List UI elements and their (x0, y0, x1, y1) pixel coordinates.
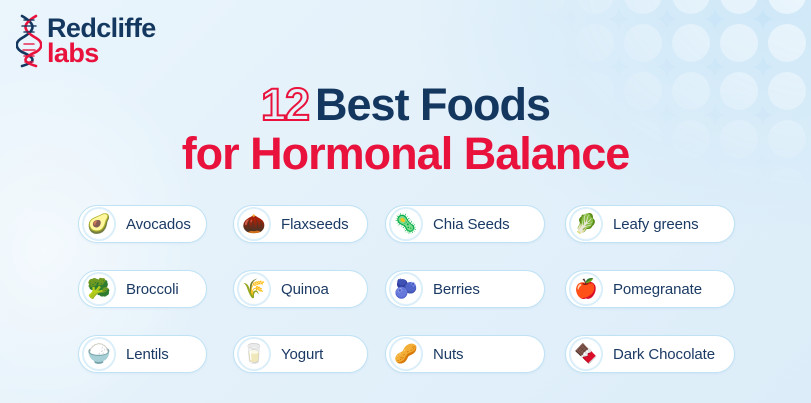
food-row: 🥑 Avocados 🌰 Flaxseeds 🦠 Chia Seeds 🥬 Le… (0, 205, 811, 270)
title-count: 12 (261, 79, 309, 130)
food-item-berries[interactable]: 🫐 Berries (385, 270, 545, 308)
title-line-1-text: Best Foods (315, 79, 550, 130)
food-item-chia-seeds[interactable]: 🦠 Chia Seeds (385, 205, 545, 243)
lentils-icon: 🍚 (83, 338, 115, 370)
dark-chocolate-icon: 🍫 (570, 338, 602, 370)
food-item-label: Avocados (126, 216, 191, 233)
infographic-poster: Redcliffe labs 12Best Foods for Hormonal… (0, 0, 811, 403)
food-item-label: Chia Seeds (433, 216, 510, 233)
brand-logo[interactable]: Redcliffe labs (16, 14, 156, 68)
leafy-greens-icon: 🥬 (570, 208, 602, 240)
food-item-label: Quinoa (281, 281, 329, 298)
food-item-pomegranate[interactable]: 🍎 Pomegranate (565, 270, 735, 308)
food-item-label: Lentils (126, 346, 169, 363)
pomegranate-icon: 🍎 (570, 273, 602, 305)
dna-helix-icon (16, 14, 42, 68)
food-row: 🍚 Lentils 🥛 Yogurt 🥜 Nuts 🍫 Dark Chocola… (0, 335, 811, 400)
food-item-label: Leafy greens (613, 216, 699, 233)
food-item-label: Broccoli (126, 281, 179, 298)
food-item-yogurt[interactable]: 🥛 Yogurt (233, 335, 368, 373)
chia-seeds-icon: 🦠 (390, 208, 422, 240)
nuts-icon: 🥜 (390, 338, 422, 370)
food-item-broccoli[interactable]: 🥦 Broccoli (78, 270, 207, 308)
food-item-flaxseeds[interactable]: 🌰 Flaxseeds (233, 205, 368, 243)
food-item-label: Berries (433, 281, 480, 298)
food-item-leafy-greens[interactable]: 🥬 Leafy greens (565, 205, 735, 243)
title-line-1: 12Best Foods (0, 82, 811, 129)
broccoli-icon: 🥦 (83, 273, 115, 305)
food-item-avocados[interactable]: 🥑 Avocados (78, 205, 207, 243)
page-title: 12Best Foods for Hormonal Balance (0, 82, 811, 178)
food-item-label: Flaxseeds (281, 216, 348, 233)
food-item-label: Nuts (433, 346, 463, 363)
food-item-quinoa[interactable]: 🌾 Quinoa (233, 270, 368, 308)
food-item-dark-chocolate[interactable]: 🍫 Dark Chocolate (565, 335, 735, 373)
food-item-label: Dark Chocolate (613, 346, 715, 363)
yogurt-icon: 🥛 (238, 338, 270, 370)
avocado-icon: 🥑 (83, 208, 115, 240)
food-row: 🥦 Broccoli 🌾 Quinoa 🫐 Berries 🍎 Pomegran… (0, 270, 811, 335)
food-item-label: Pomegranate (613, 281, 702, 298)
food-item-label: Yogurt (281, 346, 323, 363)
food-item-lentils[interactable]: 🍚 Lentils (78, 335, 207, 373)
food-list-grid: 🥑 Avocados 🌰 Flaxseeds 🦠 Chia Seeds 🥬 Le… (0, 205, 811, 400)
brand-name-bottom: labs (47, 41, 156, 66)
title-line-2: for Hormonal Balance (0, 131, 811, 178)
berries-icon: 🫐 (390, 273, 422, 305)
flaxseeds-icon: 🌰 (238, 208, 270, 240)
quinoa-icon: 🌾 (238, 273, 270, 305)
food-item-nuts[interactable]: 🥜 Nuts (385, 335, 545, 373)
